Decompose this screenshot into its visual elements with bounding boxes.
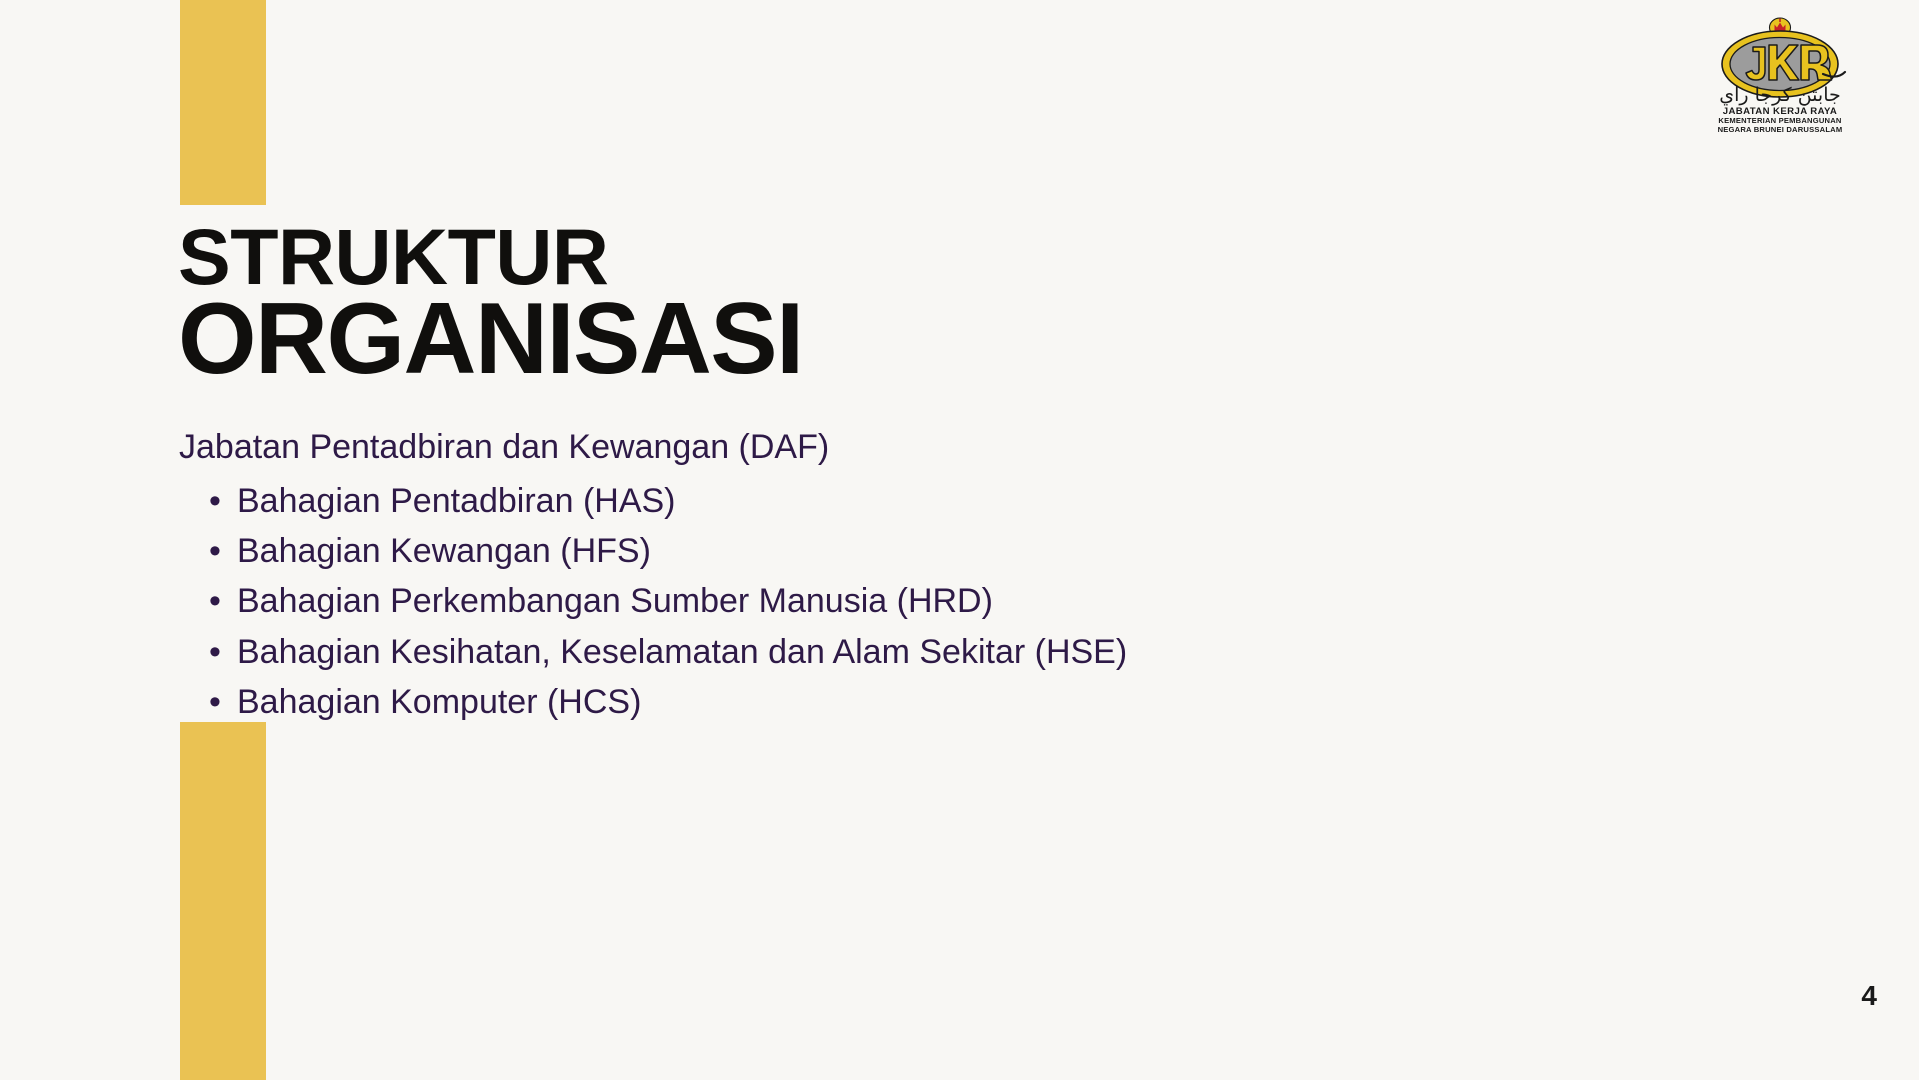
logo-caption: JABATAN KERJA RAYA KEMENTERIAN PEMBANGUN… (1705, 106, 1855, 135)
list-item: • Bahagian Kewangan (HFS) (179, 527, 1579, 575)
bullet-marker-icon: • (209, 477, 221, 525)
list-item-label: Bahagian Pentadbiran (HAS) (237, 482, 676, 520)
slide-canvas: STRUKTUR ORGANISASI Jabatan Pentadbiran … (0, 0, 1919, 1080)
list-item-label: Bahagian Kewangan (HFS) (237, 532, 651, 570)
bullet-marker-icon: • (209, 577, 221, 625)
jkr-logo: جابتن كرجا راي JABATAN KERJA RAYA KEMENT… (1705, 14, 1855, 134)
bullet-marker-icon: • (209, 527, 221, 575)
accent-bar-bottom (180, 722, 266, 1080)
list-item-label: Bahagian Komputer (HCS) (237, 683, 641, 721)
page-title: STRUKTUR ORGANISASI (178, 218, 1428, 390)
page-number: 4 (1861, 980, 1877, 1012)
content-block: Jabatan Pentadbiran dan Kewangan (DAF) •… (179, 424, 1579, 728)
list-item-label: Bahagian Perkembangan Sumber Manusia (HR… (237, 582, 993, 620)
logo-jawi-text: جابتن كرجا راي (1705, 86, 1855, 105)
list-item-label: Bahagian Kesihatan, Keselamatan dan Alam… (237, 633, 1127, 671)
bullet-marker-icon: • (209, 628, 221, 676)
list-item: • Bahagian Perkembangan Sumber Manusia (… (179, 577, 1579, 625)
accent-bar-top (180, 0, 266, 205)
logo-caption-line-3: NEGARA BRUNEI DARUSSALAM (1705, 126, 1855, 135)
list-item: • Bahagian Komputer (HCS) (179, 678, 1579, 726)
department-heading: Jabatan Pentadbiran dan Kewangan (DAF) (179, 424, 1579, 471)
bullet-marker-icon: • (209, 678, 221, 726)
list-item: • Bahagian Pentadbiran (HAS) (179, 477, 1579, 525)
division-list: • Bahagian Pentadbiran (HAS) • Bahagian … (179, 477, 1579, 726)
title-line-organisasi: ORGANISASI (178, 289, 1428, 390)
list-item: • Bahagian Kesihatan, Keselamatan dan Al… (179, 628, 1579, 676)
